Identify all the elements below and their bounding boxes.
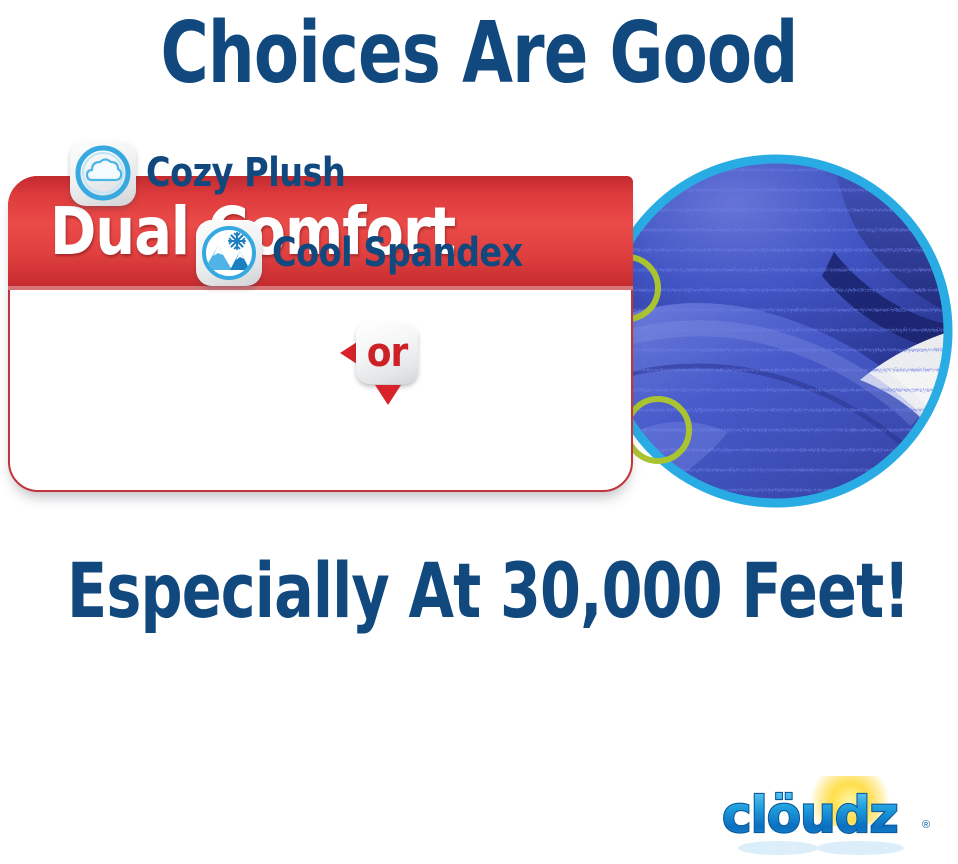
or-badge[interactable]: or: [340, 322, 426, 412]
product-photo-circle: [598, 140, 954, 522]
or-badge-label: or: [367, 332, 407, 374]
feature-label-cozy-plush: Cozy Plush: [146, 150, 345, 196]
left-arrow-icon: [340, 342, 357, 364]
feature-label-cool-spandex: Cool Spandex: [272, 230, 523, 276]
down-arrow-icon: [375, 385, 401, 405]
cloud-icon: [70, 140, 136, 206]
svg-text:clöudz: clöudz: [722, 786, 898, 844]
feature-cozy-plush[interactable]: Cozy Plush: [70, 140, 360, 206]
page-title-bottom: Especially At 30,000 Feet!: [67, 548, 891, 634]
feature-cool-spandex[interactable]: Cool Spandex: [196, 220, 542, 286]
svg-text:®: ®: [922, 819, 930, 831]
cloudz-logo: clöudz ®: [700, 776, 950, 862]
page-title-top: Choices Are Good: [67, 6, 891, 102]
product-feature-image: Choices Are Good: [0, 0, 958, 864]
mountain-snowflake-icon: [196, 220, 262, 286]
